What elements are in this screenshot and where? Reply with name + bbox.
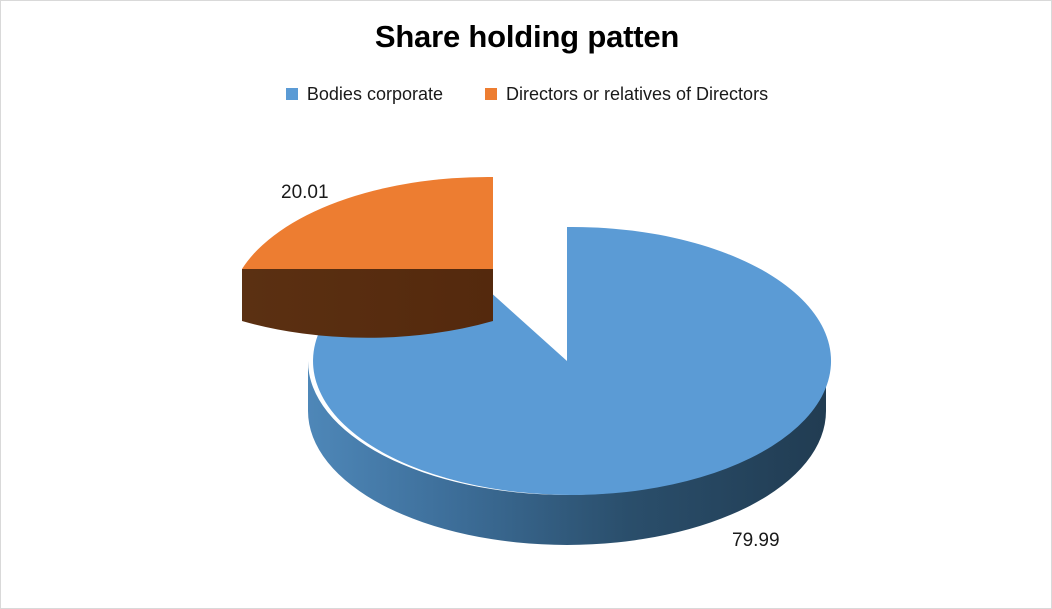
data-label-bodies-corporate: 79.99 bbox=[732, 530, 780, 551]
pie-chart-plot-area: 20.01 79.99 bbox=[1, 1, 1052, 609]
data-label-directors: 20.01 bbox=[281, 182, 329, 203]
pie-slice-directors[interactable] bbox=[242, 177, 493, 338]
pie-slice-directors-top bbox=[242, 177, 493, 269]
chart-container: Share holding patten Bodies corporate Di… bbox=[0, 0, 1052, 609]
